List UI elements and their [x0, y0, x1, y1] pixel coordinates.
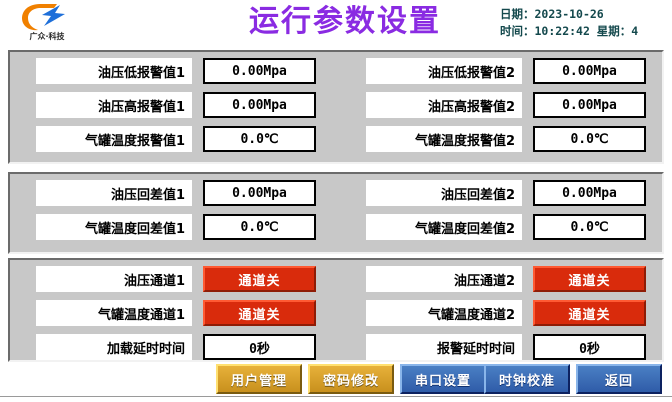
label-oil-pressure-channel-1: 油压通道1	[36, 266, 192, 292]
field-oil-pressure-hysteresis-1[interactable]: 0.00Mpa	[203, 180, 316, 206]
company-logo-icon	[20, 2, 68, 32]
field-tank-temp-alarm-1[interactable]: 0.0℃	[203, 126, 316, 152]
field-oil-pressure-high-alarm-1[interactable]: 0.00Mpa	[203, 92, 316, 118]
date-display: 日期：2023-10-26	[500, 6, 668, 23]
label-tank-temp-alarm-2: 气罐温度报警值2	[366, 126, 522, 152]
panel-hysteresis-setpoints: 油压回差值1 0.00Mpa 气罐温度回差值1 0.0℃ 油压回差值2 0.00…	[8, 172, 664, 254]
field-tank-temp-hysteresis-1[interactable]: 0.0℃	[203, 214, 316, 240]
back-button[interactable]: 返回	[576, 364, 662, 394]
label-oil-pressure-hysteresis-1: 油压回差值1	[36, 180, 192, 206]
toggle-tank-temp-channel-2[interactable]: 通道关	[533, 300, 646, 326]
field-load-delay-time[interactable]: 0秒	[203, 334, 316, 360]
toggle-oil-pressure-channel-2[interactable]: 通道关	[533, 266, 646, 292]
page-header: 广众·科技 运行参数设置 日期：2023-10-26 时间：10:22:42 星…	[0, 0, 672, 48]
field-alarm-delay-time[interactable]: 0秒	[533, 334, 646, 360]
label-oil-pressure-low-alarm-2: 油压低报警值2	[366, 58, 522, 84]
label-alarm-delay-time: 报警延时时间	[366, 334, 522, 360]
toggle-tank-temp-channel-1[interactable]: 通道关	[203, 300, 316, 326]
label-oil-pressure-channel-2: 油压通道2	[366, 266, 522, 292]
field-tank-temp-alarm-2[interactable]: 0.0℃	[533, 126, 646, 152]
label-tank-temp-hysteresis-2: 气罐温度回差值2	[366, 214, 522, 240]
label-oil-pressure-low-alarm-1: 油压低报警值1	[36, 58, 192, 84]
field-oil-pressure-high-alarm-2[interactable]: 0.00Mpa	[533, 92, 646, 118]
field-tank-temp-hysteresis-2[interactable]: 0.0℃	[533, 214, 646, 240]
panel-channel-settings: 油压通道1 通道关 气罐温度通道1 通道关 加载延时时间 0秒 油压通道2 通道…	[8, 258, 664, 362]
label-tank-temp-channel-2: 气罐温度通道2	[366, 300, 522, 326]
bottom-divider	[0, 396, 672, 397]
label-load-delay-time: 加载延时时间	[36, 334, 192, 360]
clock-block: 日期：2023-10-26 时间：10:22:42 星期：4	[500, 6, 668, 40]
field-oil-pressure-low-alarm-2[interactable]: 0.00Mpa	[533, 58, 646, 84]
label-oil-pressure-high-alarm-1: 油压高报警值1	[36, 92, 192, 118]
company-logo-text: 广众·科技	[12, 32, 82, 42]
panel-alarm-setpoints: 油压低报警值1 0.00Mpa 油压高报警值1 0.00Mpa 气罐温度报警值1…	[8, 50, 664, 164]
label-tank-temp-channel-1: 气罐温度通道1	[36, 300, 192, 326]
time-display: 时间：10:22:42 星期：4	[500, 23, 668, 40]
bottom-button-bar: 用户管理 密码修改 串口设置 时钟校准 返回	[0, 364, 672, 396]
label-oil-pressure-hysteresis-2: 油压回差值2	[366, 180, 522, 206]
page-title: 运行参数设置	[180, 4, 510, 40]
field-oil-pressure-low-alarm-1[interactable]: 0.00Mpa	[203, 58, 316, 84]
serial-port-settings-button[interactable]: 串口设置	[400, 364, 486, 394]
clock-calibration-button[interactable]: 时钟校准	[484, 364, 570, 394]
change-password-button[interactable]: 密码修改	[308, 364, 394, 394]
user-management-button[interactable]: 用户管理	[216, 364, 302, 394]
label-tank-temp-alarm-1: 气罐温度报警值1	[36, 126, 192, 152]
label-tank-temp-hysteresis-1: 气罐温度回差值1	[36, 214, 192, 240]
field-oil-pressure-hysteresis-2[interactable]: 0.00Mpa	[533, 180, 646, 206]
company-logo: 广众·科技	[6, 2, 78, 46]
toggle-oil-pressure-channel-1[interactable]: 通道关	[203, 266, 316, 292]
label-oil-pressure-high-alarm-2: 油压高报警值2	[366, 92, 522, 118]
